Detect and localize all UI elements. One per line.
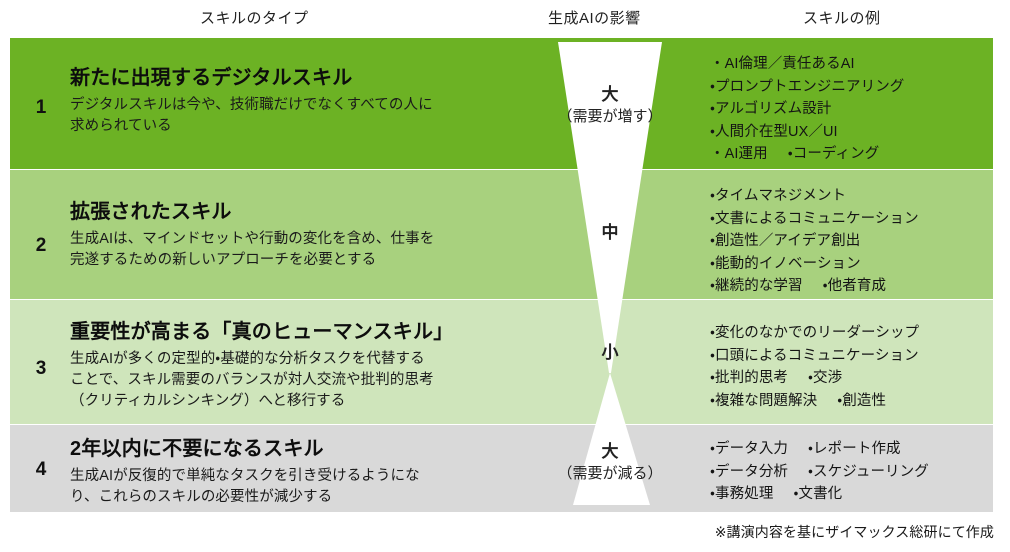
- list-item: ・事務処理・文書化: [710, 483, 1000, 506]
- list-item: ・口頭によるコミュニケーション: [710, 345, 1000, 368]
- skill-type-description-line: ことで、スキル需要のバランスが対人交流や批判的思考: [70, 370, 540, 391]
- row-number: 1: [28, 98, 54, 117]
- skill-examples-cell: ・AI倫理／責任あるAI ・プロンプトエンジニアリング ・アルゴリズム設計 ・人…: [710, 53, 1000, 166]
- example-secondary: ・他者育成: [823, 275, 886, 298]
- example-primary: ・批判的思考: [710, 370, 788, 386]
- example-primary: ・口頭によるコミュニケーション: [710, 348, 919, 364]
- example-primary: ・プロンプトエンジニアリング: [710, 79, 904, 95]
- skill-type-description-line: り、これらのスキルの必要性が減少する: [70, 487, 540, 508]
- skill-type-description-line: 生成AIが多くの定型的・基礎的な分析タスクを代替する: [70, 349, 540, 370]
- skill-examples-cell: ・タイムマネジメント ・文書によるコミュニケーション ・創造性／アイデア創出 ・…: [710, 185, 1000, 298]
- impact-level-row-2: 中: [520, 222, 700, 245]
- impact-level-row-1: 大 （需要が増す）: [520, 84, 700, 127]
- skills-matrix: 1 新たに出現するデジタルスキル デジタルスキルは今や、技術職だけでなくすべての…: [10, 38, 993, 512]
- table-row[interactable]: 2 拡張されたスキル 生成AIは、マインドセットや行動の変化を含め、仕事を 完遂…: [10, 170, 993, 299]
- impact-level-value: 大: [520, 441, 700, 464]
- list-item: ・批判的思考・交渉: [710, 367, 1000, 390]
- list-item: ・データ分析・スケジューリング: [710, 461, 1000, 484]
- skill-type-title: 2年以内に不要になるスキル: [70, 437, 540, 462]
- table-row[interactable]: 3 重要性が高まる「真のヒューマンスキル」 生成AIが多くの定型的・基礎的な分析…: [10, 300, 993, 424]
- skill-type-title: 拡張されたスキル: [70, 200, 540, 225]
- column-header-ai-impact: 生成AIの影響: [548, 7, 641, 28]
- skill-type-description-line: 生成AIは、マインドセットや行動の変化を含め、仕事を: [70, 229, 540, 250]
- example-secondary: ・交渉: [808, 367, 842, 390]
- list-item: ・文書によるコミュニケーション: [710, 208, 1000, 231]
- skill-type-title: 新たに出現するデジタルスキル: [70, 66, 540, 91]
- skill-type-description-line: 生成AIが反復的で単純なタスクを引き受けるようにな: [70, 466, 540, 487]
- list-item: ・タイムマネジメント: [710, 185, 1000, 208]
- impact-level-row-3: 小: [520, 342, 700, 365]
- example-primary: ・創造性／アイデア創出: [710, 233, 860, 249]
- example-primary: ・タイムマネジメント: [710, 188, 846, 204]
- list-item: ・複雑な問題解決・創造性: [710, 390, 1000, 413]
- list-item: ・プロンプトエンジニアリング: [710, 76, 1000, 99]
- skill-examples-cell: ・変化のなかでのリーダーシップ ・口頭によるコミュニケーション ・批判的思考・交…: [710, 322, 1000, 412]
- skill-type-cell: 新たに出現するデジタルスキル デジタルスキルは今や、技術職だけでなくすべての人に…: [70, 66, 540, 137]
- impact-level-value: 小: [520, 342, 700, 365]
- example-primary: ・事務処理: [710, 486, 773, 502]
- skill-type-description-line: デジタルスキルは今や、技術職だけでなくすべての人に: [70, 95, 540, 116]
- skill-type-description-line: 求められている: [70, 116, 540, 137]
- row-number: 3: [28, 359, 54, 378]
- list-item: ・能動的イノベーション: [710, 253, 1000, 276]
- table-row[interactable]: 1 新たに出現するデジタルスキル デジタルスキルは今や、技術職だけでなくすべての…: [10, 38, 993, 169]
- example-secondary: ・創造性: [837, 390, 886, 413]
- skill-type-cell: 拡張されたスキル 生成AIは、マインドセットや行動の変化を含め、仕事を 完遂する…: [70, 200, 540, 271]
- example-primary: ・AI倫理／責任あるAI: [710, 56, 855, 72]
- table-row[interactable]: 4 2年以内に不要になるスキル 生成AIが反復的で単純なタスクを引き受けるように…: [10, 425, 993, 512]
- example-primary: ・人間介在型UX／UI: [710, 124, 838, 140]
- example-primary: ・アルゴリズム設計: [710, 101, 831, 117]
- list-item: ・変化のなかでのリーダーシップ: [710, 322, 1000, 345]
- list-item: ・創造性／アイデア創出: [710, 230, 1000, 253]
- skill-type-title: 重要性が高まる「真のヒューマンスキル」: [70, 320, 540, 345]
- skill-examples-cell: ・データ入力・レポート作成 ・データ分析・スケジューリング ・事務処理・文書化: [710, 438, 1000, 506]
- row-number: 2: [28, 236, 54, 255]
- list-item: ・データ入力・レポート作成: [710, 438, 1000, 461]
- column-header-skill-type: スキルのタイプ: [200, 7, 309, 28]
- column-header-skill-examples: スキルの例: [803, 7, 881, 28]
- example-primary: ・文書によるコミュニケーション: [710, 211, 919, 227]
- example-secondary: ・文書化: [793, 483, 842, 506]
- example-primary: ・能動的イノベーション: [710, 256, 861, 272]
- example-primary: ・データ分析: [710, 464, 788, 480]
- example-secondary: ・レポート作成: [808, 438, 901, 461]
- example-primary: ・複雑な問題解決: [710, 393, 817, 409]
- example-secondary: ・スケジューリング: [808, 461, 929, 484]
- list-item: ・人間介在型UX／UI: [710, 121, 1000, 144]
- example-secondary: ・コーディング: [788, 143, 880, 166]
- example-primary: ・AI運用: [710, 146, 768, 162]
- impact-level-value: 中: [520, 222, 700, 245]
- column-headers: スキルのタイプ 生成AIの影響 スキルの例: [0, 0, 1010, 38]
- impact-level-note: （需要が増す）: [520, 107, 700, 127]
- impact-level-row-4: 大 （需要が減る）: [520, 441, 700, 484]
- skill-type-cell: 重要性が高まる「真のヒューマンスキル」 生成AIが多くの定型的・基礎的な分析タス…: [70, 320, 540, 412]
- example-primary: ・変化のなかでのリーダーシップ: [710, 325, 919, 341]
- impact-level-value: 大: [520, 84, 700, 107]
- example-primary: ・継続的な学習: [710, 278, 803, 294]
- impact-level-note: （需要が減る）: [520, 464, 700, 484]
- list-item: ・アルゴリズム設計: [710, 98, 1000, 121]
- list-item: ・AI運用・コーディング: [710, 143, 1000, 166]
- skill-type-description-line: 完遂するための新しいアプローチを必要とする: [70, 250, 540, 271]
- list-item: ・継続的な学習・他者育成: [710, 275, 1000, 298]
- row-number: 4: [28, 460, 54, 479]
- list-item: ・AI倫理／責任あるAI: [710, 53, 1000, 76]
- example-primary: ・データ入力: [710, 441, 788, 457]
- skill-type-description-line: （クリティカルシンキング）へと移行する: [70, 391, 540, 412]
- skill-type-cell: 2年以内に不要になるスキル 生成AIが反復的で単純なタスクを引き受けるようにな …: [70, 437, 540, 508]
- source-footnote: ※講演内容を基にザイマックス総研にて作成: [715, 522, 994, 542]
